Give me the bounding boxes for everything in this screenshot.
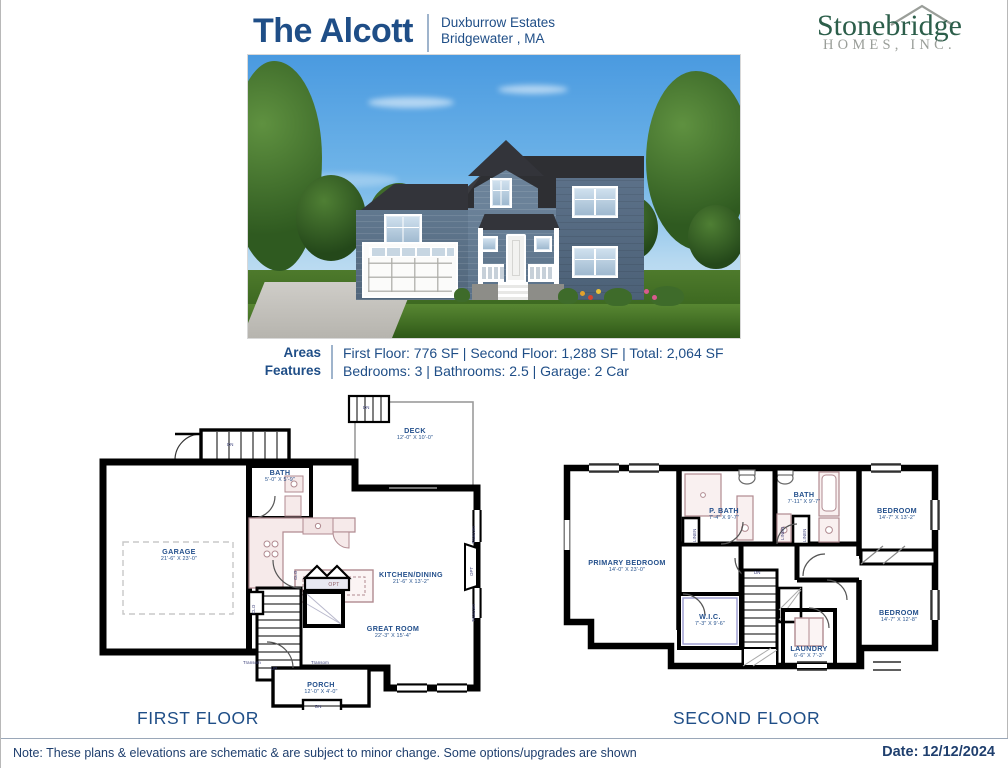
room-label-bedroom-3: BEDROOM 14'-7" X 12'-8" — [863, 608, 935, 624]
marker-transom: Transom — [311, 660, 329, 665]
first-floor-plan: GARAGE 21'-6" X 23'-0" BATH 5'-0" X 5'-9… — [97, 392, 497, 710]
community-block: Duxburrow Estates Bridgewater , MA — [441, 12, 555, 47]
marker-up: UP — [271, 666, 277, 671]
marker-transom: Transom — [243, 660, 261, 665]
marker-dn: DN — [227, 442, 234, 447]
room-label-great-room: GREAT ROOM 22'-3" X 15'-4" — [345, 624, 441, 640]
room-label-laundry: LAUNDRY 6'-6" X 7'-3" — [783, 644, 835, 660]
second-floor-plan: PRIMARY BEDROOM 14'-0" X 23'-0" P. BATH … — [561, 460, 941, 682]
porch-steps — [498, 282, 528, 300]
areas-value: First Floor: 776 SF | Second Floor: 1,28… — [343, 344, 724, 362]
first-floor-label: FIRST FLOOR — [137, 708, 259, 729]
title-block: The Alcott Duxburrow Estates Bridgewater… — [253, 12, 555, 52]
shrub — [454, 288, 470, 302]
porch-roof — [478, 214, 560, 230]
garage-door — [362, 242, 458, 298]
features-label: Features — [253, 362, 321, 380]
shrub — [604, 288, 632, 306]
marker-closet: CLO — [251, 605, 256, 614]
room-label-kitchen-dining: KITCHEN/DINING 21'-6" X 13'-2" — [363, 570, 459, 586]
marker-opt: OPT — [469, 567, 474, 576]
marker-linen: LINEN — [692, 529, 697, 542]
plan-sheet: The Alcott Duxburrow Estates Bridgewater… — [0, 0, 1008, 768]
features-value: Bedrooms: 3 | Bathrooms: 2.5 | Garage: 2… — [343, 362, 724, 380]
spec-values: First Floor: 776 SF | Second Floor: 1,28… — [343, 344, 724, 380]
window — [572, 186, 618, 218]
porch-column — [554, 228, 559, 286]
room-label-garage: GARAGE 21'-6" X 23'-0" — [135, 547, 223, 563]
community-name: Duxburrow Estates — [441, 15, 555, 31]
house-elevation — [340, 122, 640, 300]
spec-divider — [331, 345, 333, 379]
specs-block: Areas Features First Floor: 776 SF | Sec… — [253, 344, 724, 380]
shrub — [558, 288, 578, 304]
room-label-deck: DECK 12'-0" X 10'-0" — [377, 426, 453, 442]
flower — [652, 295, 657, 300]
flower — [588, 295, 593, 300]
sheet-date: Date: 12/12/2024 — [882, 744, 995, 760]
marker-dn: DN — [315, 704, 322, 709]
porch-railing — [528, 264, 554, 282]
flower — [596, 289, 601, 294]
room-label-bedroom-2: BEDROOM 14'-7" X 13'-2" — [861, 506, 933, 522]
cloud — [368, 97, 454, 108]
marker-closet: CLO — [293, 571, 298, 580]
room-label-primary-bedroom: PRIMARY BEDROOM 14'-0" X 23'-0" — [579, 558, 675, 574]
window — [572, 246, 618, 278]
sidelite-window — [534, 236, 552, 252]
room-label-bath: BATH 7'-11" X 9'-7" — [775, 490, 833, 506]
marker-dn: DN — [363, 405, 370, 410]
community-location: Bridgewater , MA — [441, 31, 555, 47]
marker-transom: Transom — [471, 526, 476, 544]
marker-transom: Transom — [471, 604, 476, 622]
spec-labels: Areas Features — [253, 344, 321, 380]
garage-window-lites — [369, 247, 455, 257]
marker-dn: DN — [754, 570, 761, 575]
page-title: The Alcott — [253, 12, 413, 50]
marker-linen: LINEN — [780, 527, 785, 540]
porch-railing — [480, 264, 504, 282]
stonebridge-logo: Stonebridge HOMES, INC. — [817, 4, 995, 56]
front-door — [506, 234, 526, 282]
disclaimer-note: Note: These plans & elevations are schem… — [13, 746, 637, 760]
flower — [644, 289, 649, 294]
cloud — [498, 85, 568, 94]
opt-island-label: OPT — [313, 578, 355, 592]
window — [490, 178, 512, 208]
room-label-bath: BATH 5'-0" X 5'-9" — [249, 468, 311, 484]
title-divider — [427, 14, 429, 52]
elevation-rendering — [247, 54, 741, 339]
room-label-porch: PORCH 12'-0" X 4'-0" — [283, 680, 359, 696]
areas-label: Areas — [253, 344, 321, 362]
tree — [688, 205, 741, 269]
room-label-wic: W.I.C. 7'-3" X 9'-6" — [681, 612, 739, 628]
flower — [580, 291, 585, 296]
footer-bar: Note: These plans & elevations are schem… — [1, 738, 1008, 768]
sheet-header: The Alcott Duxburrow Estates Bridgewater… — [1, 0, 1008, 56]
marker-linen: LINEN — [802, 529, 807, 542]
room-label-primary-bath: P. BATH 7'-4" X 9'-7" — [691, 506, 757, 522]
second-floor-label: SECOND FLOOR — [673, 708, 820, 729]
logo-subtext: HOMES, INC. — [823, 37, 1001, 53]
